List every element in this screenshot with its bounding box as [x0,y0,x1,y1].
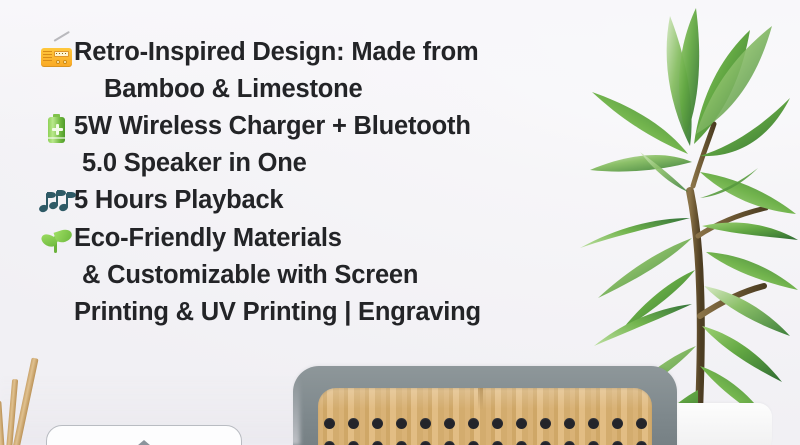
speaker-hole [516,418,527,429]
white-product-card [46,425,242,445]
feature-line-1: 5W Wireless Charger + Bluetooth [74,112,471,140]
product-feature-graphic: Retro-Inspired Design: Made from Bamboo … [0,0,800,445]
speaker-hole [564,441,575,445]
speaker-hole [396,418,407,429]
speaker-hole [348,418,359,429]
speaker-hole [492,441,503,445]
speaker-hole [324,418,335,429]
speaker-hole [420,418,431,429]
speaker-hole [636,441,647,445]
feature-text-playback: 5 Hours Playback [74,182,283,219]
speaker-hole [588,418,599,429]
speaker-hole-grid [318,418,652,445]
feature-text-wireless-charger: 5W Wireless Charger + Bluetooth 5.0 Spea… [74,108,471,182]
feature-line-3: Printing & UV Printing | Engraving [74,294,481,331]
speaker-hole [372,418,383,429]
speaker-hole [612,441,623,445]
feature-row-playback: 5 Hours Playback [40,182,580,220]
bamboo-seam [478,388,483,410]
speaker-hole [348,441,359,445]
speaker-hole [444,441,455,445]
feature-text-retro-design: Retro-Inspired Design: Made from Bamboo … [74,34,478,108]
music-notes-icon [40,186,74,220]
speaker-hole [540,441,551,445]
speaker-hole [492,418,503,429]
feature-list: Retro-Inspired Design: Made from Bamboo … [40,34,580,331]
speaker-hole [396,441,407,445]
bamboo-bluetooth-speaker [293,366,677,445]
feature-row-retro-design: Retro-Inspired Design: Made from Bamboo … [40,34,580,108]
speaker-hole [468,418,479,429]
feature-row-eco-friendly: Eco-Friendly Materials & Customizable wi… [40,220,580,331]
speaker-hole [372,441,383,445]
speaker-hole [420,441,431,445]
card-glyph-icon [118,440,170,445]
feature-line-2: Bamboo & Limestone [74,71,478,108]
feature-line-1: 5 Hours Playback [74,186,283,214]
speaker-hole [564,418,575,429]
speaker-hole [324,441,335,445]
hole-row [324,418,647,429]
speaker-hole [612,418,623,429]
feature-line-1: Eco-Friendly Materials [74,224,342,252]
feature-text-eco-friendly: Eco-Friendly Materials & Customizable wi… [74,220,481,331]
feature-line-2: & Customizable with Screen [74,257,481,294]
battery-icon [40,112,74,146]
speaker-hole [516,441,527,445]
speaker-hole [636,418,647,429]
speaker-hole [444,418,455,429]
radio-icon [40,38,74,72]
feature-line-2: 5.0 Speaker in One [74,145,471,182]
feature-line-1: Retro-Inspired Design: Made from [74,38,478,66]
seedling-icon [40,224,74,258]
speaker-hole [588,441,599,445]
hole-row [324,441,647,445]
speaker-hole [540,418,551,429]
feature-row-wireless-charger: 5W Wireless Charger + Bluetooth 5.0 Spea… [40,108,580,182]
speaker-hole [468,441,479,445]
speaker-bamboo-panel [318,388,652,445]
